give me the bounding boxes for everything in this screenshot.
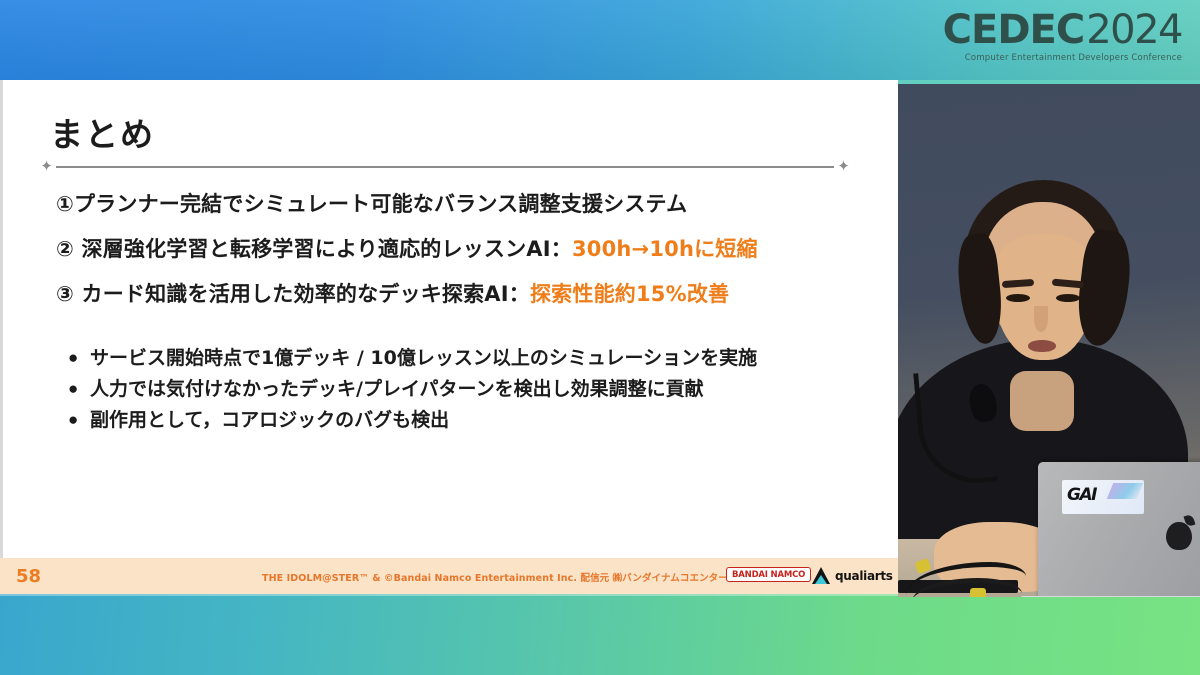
bandai-namco-logo: BANDAI NAMCO <box>726 567 811 582</box>
numbered-item-1: ①プランナー完結でシミュレート可能なバランス調整支援システム <box>56 188 856 218</box>
video-speaker-neck <box>1010 371 1074 431</box>
numbered-item-3-marker: ③ <box>56 282 74 306</box>
page-number: 58 <box>16 566 41 587</box>
divider-line <box>56 166 834 168</box>
bullet-item-2-text: 人力では気付けなかったデッキ/プレイパターンを検出し効果調整に貢献 <box>90 376 704 402</box>
cedec-logo: CEDEC 2024 Computer Entertainment Develo… <box>962 10 1182 68</box>
numbered-item-3-highlight: 探索性能約15%改善 <box>530 282 729 306</box>
cedec-logo-year: 2024 <box>1086 10 1182 50</box>
video-laptop-base <box>1020 596 1200 597</box>
video-speaker-nose <box>1034 306 1048 332</box>
page-title: まとめ <box>50 108 155 156</box>
cedec-logo-main: CEDEC 2024 <box>962 10 1182 50</box>
numbered-list: ①プランナー完結でシミュレート可能なバランス調整支援システム ② 深層強化学習と… <box>56 188 856 323</box>
bullet-item-3-text: 副作用として，コアロジックのバグも検出 <box>90 407 449 433</box>
numbered-item-2-text: 深層強化学習と転移学習により適応的レッスンAI： <box>82 237 572 261</box>
cedec-logo-subtitle: Computer Entertainment Developers Confer… <box>962 53 1182 63</box>
title-divider: ✦ ✦ <box>40 160 850 174</box>
bullet-dot-icon: ● <box>62 345 90 371</box>
video-speaker-eye-right <box>1056 294 1080 302</box>
bullet-dot-icon: ● <box>62 376 90 402</box>
laptop-sticker-accent <box>1107 483 1143 499</box>
video-cable-clip-2 <box>970 588 986 597</box>
copyright-credit: THE IDOLM@STER™ & ©Bandai Namco Entertai… <box>262 570 785 584</box>
numbered-item-2: ② 深層強化学習と転移学習により適応的レッスンAI：300h→10hに短縮 <box>56 233 856 263</box>
bottom-gradient-band <box>0 594 1200 675</box>
video-speaker-eye-left <box>1006 294 1030 302</box>
numbered-item-1-text: プランナー完結でシミュレート可能なバランス調整支援システム <box>74 192 687 216</box>
qualiarts-logo: qualiarts <box>812 567 893 584</box>
diamond-left-icon: ✦ <box>40 160 53 173</box>
diamond-right-icon: ✦ <box>837 160 850 173</box>
video-speaker-mouth <box>1028 340 1056 352</box>
numbered-item-2-highlight: 300h→10hに短縮 <box>572 237 758 261</box>
bullet-item-1-text: サービス開始時点で1億デッキ / 10億レッスン以上のシミュレーションを実施 <box>90 345 757 371</box>
speaker-video-feed: GAI <box>898 84 1200 597</box>
numbered-item-2-marker: ② <box>56 237 74 261</box>
bullet-list: ● サービス開始時点で1億デッキ / 10億レッスン以上のシミュレーションを実施… <box>62 345 872 438</box>
laptop-sticker: GAI <box>1062 480 1144 514</box>
qualiarts-logo-text: qualiarts <box>835 569 893 583</box>
bullet-dot-icon: ● <box>62 407 90 433</box>
numbered-item-1-marker: ① <box>56 192 74 216</box>
list-item: ● 副作用として，コアロジックのバグも検出 <box>62 407 872 433</box>
list-item: ● サービス開始時点で1億デッキ / 10億レッスン以上のシミュレーションを実施 <box>62 345 872 371</box>
top-gradient-band: CEDEC 2024 Computer Entertainment Develo… <box>0 0 1200 80</box>
apple-logo-icon <box>1166 522 1192 550</box>
laptop-sticker-text: GAI <box>1067 485 1096 505</box>
numbered-item-3: ③ カード知識を活用した効率的なデッキ探索AI：探索性能約15%改善 <box>56 278 856 308</box>
cedec-logo-wordmark: CEDEC <box>943 10 1085 50</box>
slide-left-edge <box>0 80 3 558</box>
qualiarts-triangle-icon <box>812 567 830 584</box>
list-item: ● 人力では気付けなかったデッキ/プレイパターンを検出し効果調整に貢献 <box>62 376 872 402</box>
slide-screenshot: CEDEC 2024 Computer Entertainment Develo… <box>0 0 1200 675</box>
numbered-item-3-text: カード知識を活用した効率的なデッキ探索AI： <box>82 282 530 306</box>
